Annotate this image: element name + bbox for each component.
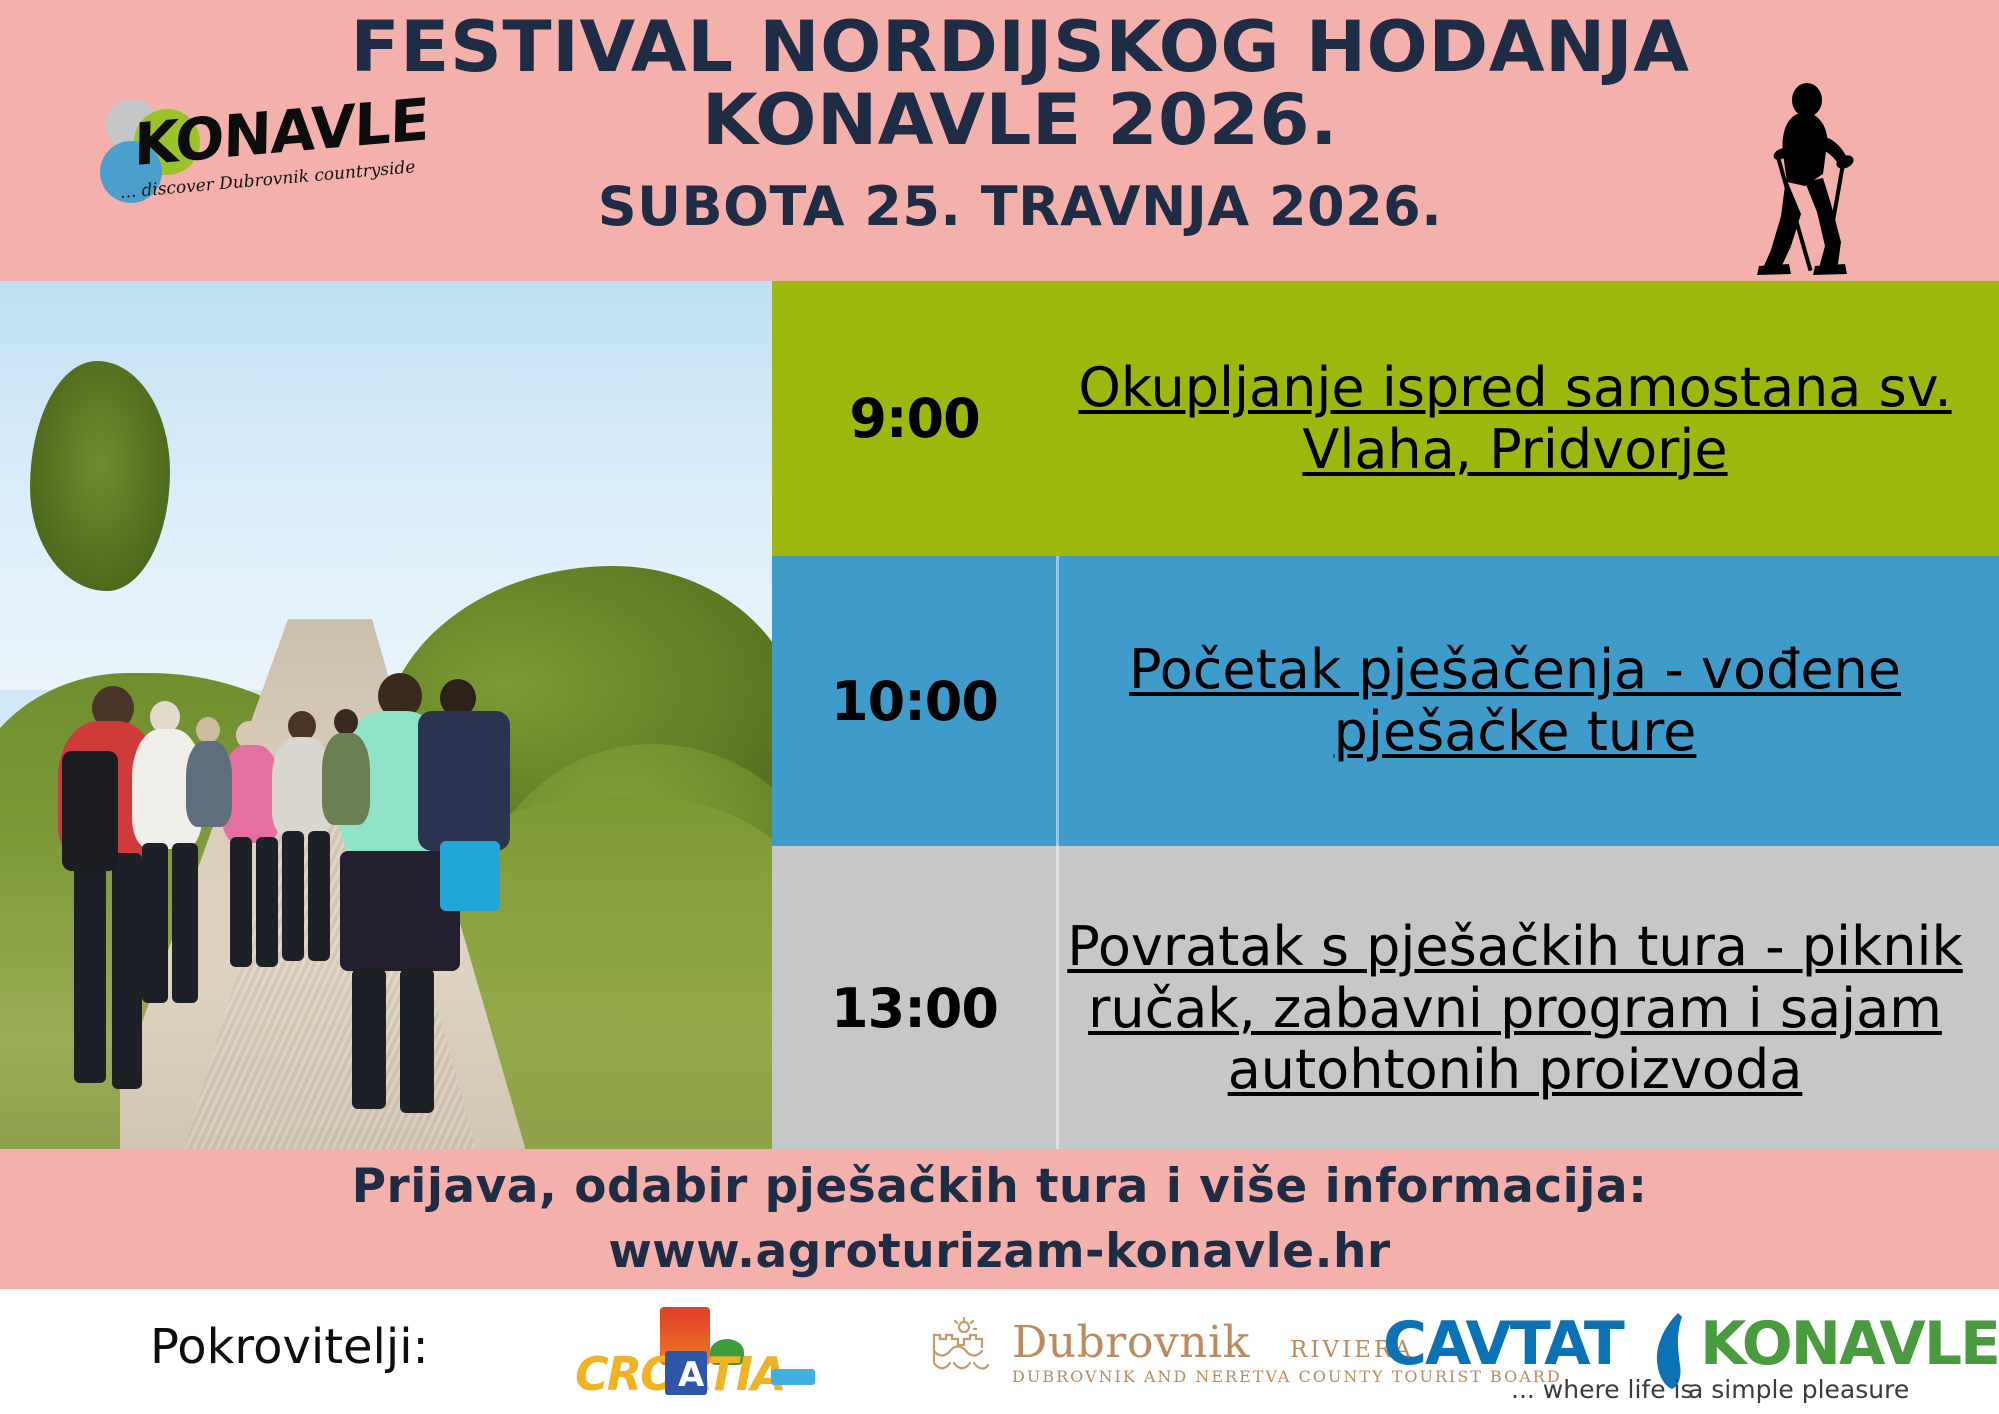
schedule-time: 9:00: [772, 387, 1057, 450]
schedule-description: Okupljanje ispred samostana sv. Vlaha, P…: [1057, 357, 1999, 480]
cavtat-tagline-left: ... where life is: [1511, 1375, 1694, 1404]
walker-body-far: [186, 741, 232, 827]
poster: KONAVLE ... discover Dubrovnik countrysi…: [0, 0, 1999, 1414]
poster-title: FESTIVAL NORDIJSKOG HODANJA KONAVLE 2026…: [330, 12, 1710, 238]
schedule-divider: [1056, 556, 1059, 846]
walker-backpack: [62, 751, 118, 871]
poster-header: KONAVLE ... discover Dubrovnik countrysi…: [0, 0, 1999, 281]
walker-legs: [352, 969, 386, 1109]
walker-legs: [282, 831, 304, 961]
schedule-table: 9:00 Okupljanje ispred samostana sv. Vla…: [772, 281, 1999, 1171]
walker-head: [196, 717, 220, 743]
croatia-tourist-board-logo: CROATIA A: [575, 1307, 815, 1403]
dubrovnik-wordmark: Dubrovnik: [1012, 1317, 1250, 1368]
event-date: SUBOTA 25. TRAVNJA 2026.: [330, 175, 1710, 238]
croatia-blue-wave-icon: [771, 1369, 815, 1385]
schedule-row: 13:00 Povratak s pješačkih tura - piknik…: [772, 846, 1999, 1171]
dubrovnik-riviera-logo: Dubrovnik RIVIERA DUBROVNIK AND NERETVA …: [930, 1311, 1350, 1397]
sponsors-footer: Pokrovitelji: CROATIA A: [0, 1289, 1999, 1414]
hikers-photo: [0, 281, 772, 1171]
walker-legs: [230, 837, 252, 967]
schedule-description: Povratak s pješačkih tura - piknik ručak…: [1057, 916, 1999, 1101]
walker-legs: [400, 969, 434, 1113]
schedule-time: 10:00: [772, 670, 1057, 733]
cta-line-1: Prijava, odabir pješačkih tura i više in…: [352, 1159, 1648, 1214]
schedule-divider: [1056, 846, 1059, 1171]
schedule-description: Početak pješačenja - vođene pješačke tur…: [1057, 639, 1999, 762]
cta-website-link[interactable]: www.agroturizam-konavle.hr: [608, 1224, 1390, 1279]
walker-shorts: [440, 841, 500, 911]
sponsors-label: Pokrovitelji:: [150, 1319, 429, 1375]
photo-tree: [30, 361, 170, 591]
walker-body-striped: [418, 711, 510, 851]
walker-legs: [142, 843, 168, 1003]
cavtat-tagline-right: a simple pleasure: [1688, 1375, 1909, 1404]
walker-legs: [308, 831, 330, 961]
walker-legs: [74, 853, 106, 1083]
schedule-row: 9:00 Okupljanje ispred samostana sv. Vla…: [772, 281, 1999, 556]
walker-legs: [172, 843, 198, 1003]
walker-head: [334, 709, 358, 735]
konavle-wordmark: KONAVLE: [1700, 1309, 1999, 1379]
title-line-1: FESTIVAL NORDIJSKOG HODANJA: [309, 12, 1730, 83]
walker-body-far: [322, 733, 370, 825]
cavtat-konavle-logo: CAVTAT KONAVLE ... where life is a simpl…: [1383, 1309, 1943, 1401]
croatia-a-glyph-icon: A: [678, 1355, 704, 1395]
dubrovnik-fortress-icon: [930, 1317, 992, 1379]
title-line-2: KONAVLE 2026.: [309, 85, 1730, 156]
walker-legs: [112, 853, 142, 1089]
schedule-time: 13:00: [772, 977, 1057, 1040]
registration-cta: Prijava, odabir pješačkih tura i više in…: [0, 1149, 1999, 1289]
nordic-walker-icon: [1745, 78, 1915, 278]
cavtat-wordmark: CAVTAT: [1383, 1309, 1623, 1379]
schedule-row: 10:00 Početak pješačenja - vođene pješač…: [772, 556, 1999, 846]
walker-legs: [256, 837, 278, 967]
